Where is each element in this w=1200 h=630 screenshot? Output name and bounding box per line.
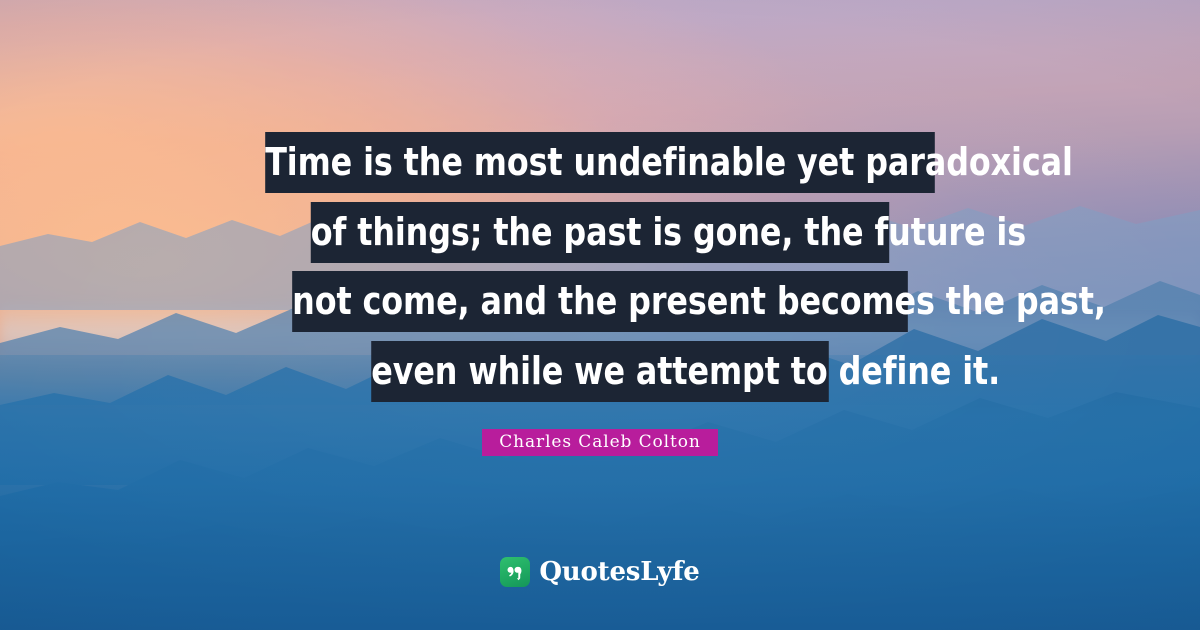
quote-mark-icon [500, 557, 530, 587]
author-attribution: Charles Caleb Colton [0, 429, 1200, 456]
quote-line-4: even while we attempt to define it. [371, 341, 829, 402]
quote-text: Time is the most undefinable yet paradox… [0, 132, 1200, 402]
quote-line-3: not come, and the present becomes the pa… [292, 271, 908, 332]
quote-card: Time is the most undefinable yet paradox… [0, 0, 1200, 630]
quote-line-1: Time is the most undefinable yet paradox… [265, 132, 935, 193]
brand-name: QuotesLyfe [539, 557, 699, 587]
brand-logo[interactable]: QuotesLyfe [0, 557, 1200, 587]
quote-line-2: of things; the past is gone, the future … [311, 202, 889, 263]
author-name-badge: Charles Caleb Colton [482, 429, 717, 456]
